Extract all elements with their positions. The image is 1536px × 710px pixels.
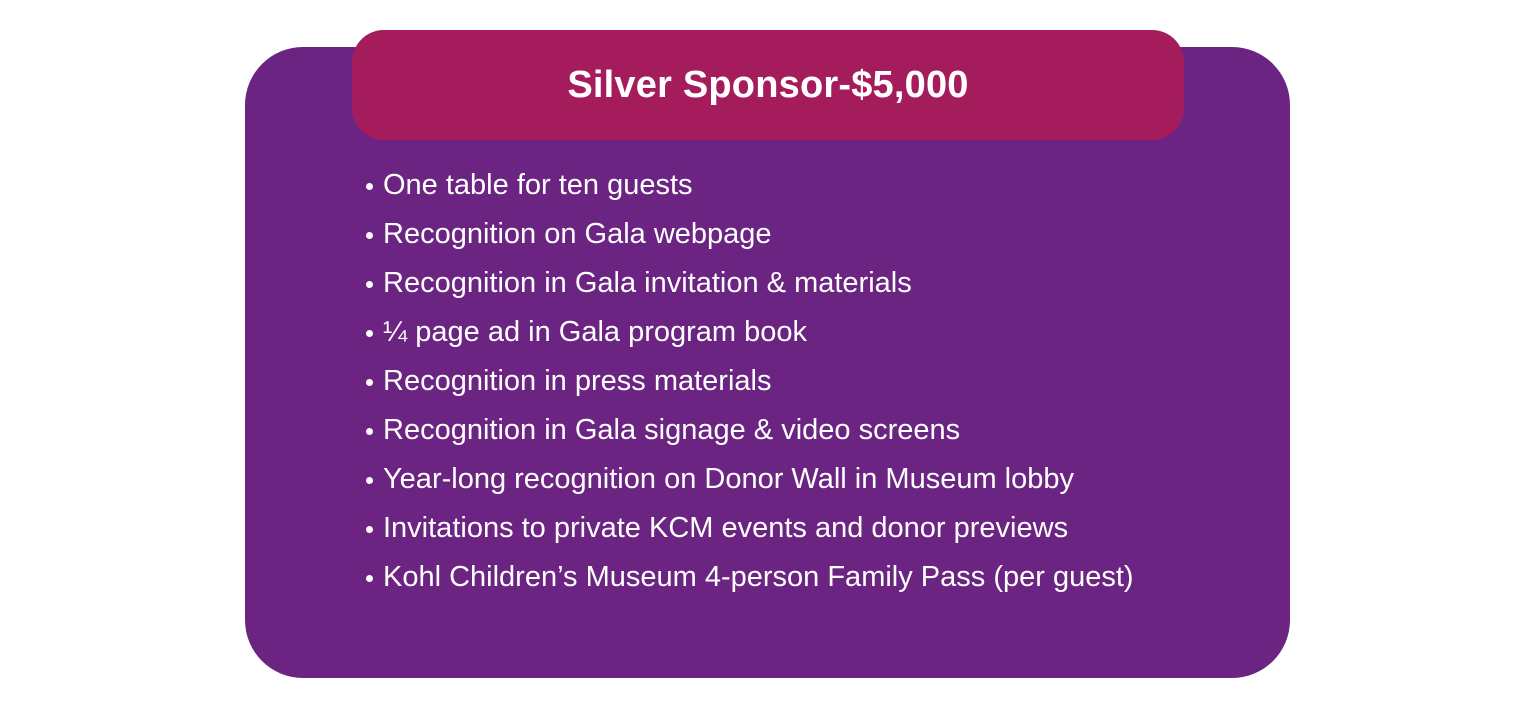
benefit-item: ¼ page ad in Gala program book [366,308,1266,357]
benefit-item: Recognition on Gala webpage [366,210,1266,259]
benefit-label: Invitations to private KCM events and do… [383,504,1068,553]
benefit-item: Recognition in Gala signage & video scre… [366,406,1266,455]
benefit-label: ¼ page ad in Gala program book [383,308,807,357]
bullet-icon [366,428,373,435]
benefit-label: Recognition in Gala signage & video scre… [383,406,960,455]
benefit-label: Recognition on Gala webpage [383,210,772,259]
benefit-label: Kohl Children’s Museum 4-person Family P… [383,553,1134,602]
benefit-item: Kohl Children’s Museum 4-person Family P… [366,553,1266,602]
bullet-icon [366,379,373,386]
sponsor-tier-title: Silver Sponsor-$5,000 [567,66,968,104]
bullet-icon [366,526,373,533]
bullet-icon [366,183,373,190]
benefit-item: Recognition in Gala invitation & materia… [366,259,1266,308]
bullet-icon [366,575,373,582]
benefit-label: Year-long recognition on Donor Wall in M… [383,455,1074,504]
bullet-icon [366,232,373,239]
sponsor-benefits-list: One table for ten guests Recognition on … [366,161,1266,602]
benefit-item: Recognition in press materials [366,357,1266,406]
bullet-icon [366,477,373,484]
benefit-label: One table for ten guests [383,161,693,210]
benefit-item: One table for ten guests [366,161,1266,210]
sponsor-slide: Silver Sponsor-$5,000 One table for ten … [0,0,1536,710]
bullet-icon [366,330,373,337]
benefit-label: Recognition in Gala invitation & materia… [383,259,912,308]
sponsor-tier-header: Silver Sponsor-$5,000 [352,30,1184,140]
benefit-item: Year-long recognition on Donor Wall in M… [366,455,1266,504]
bullet-icon [366,281,373,288]
benefit-item: Invitations to private KCM events and do… [366,504,1266,553]
benefit-label: Recognition in press materials [383,357,771,406]
